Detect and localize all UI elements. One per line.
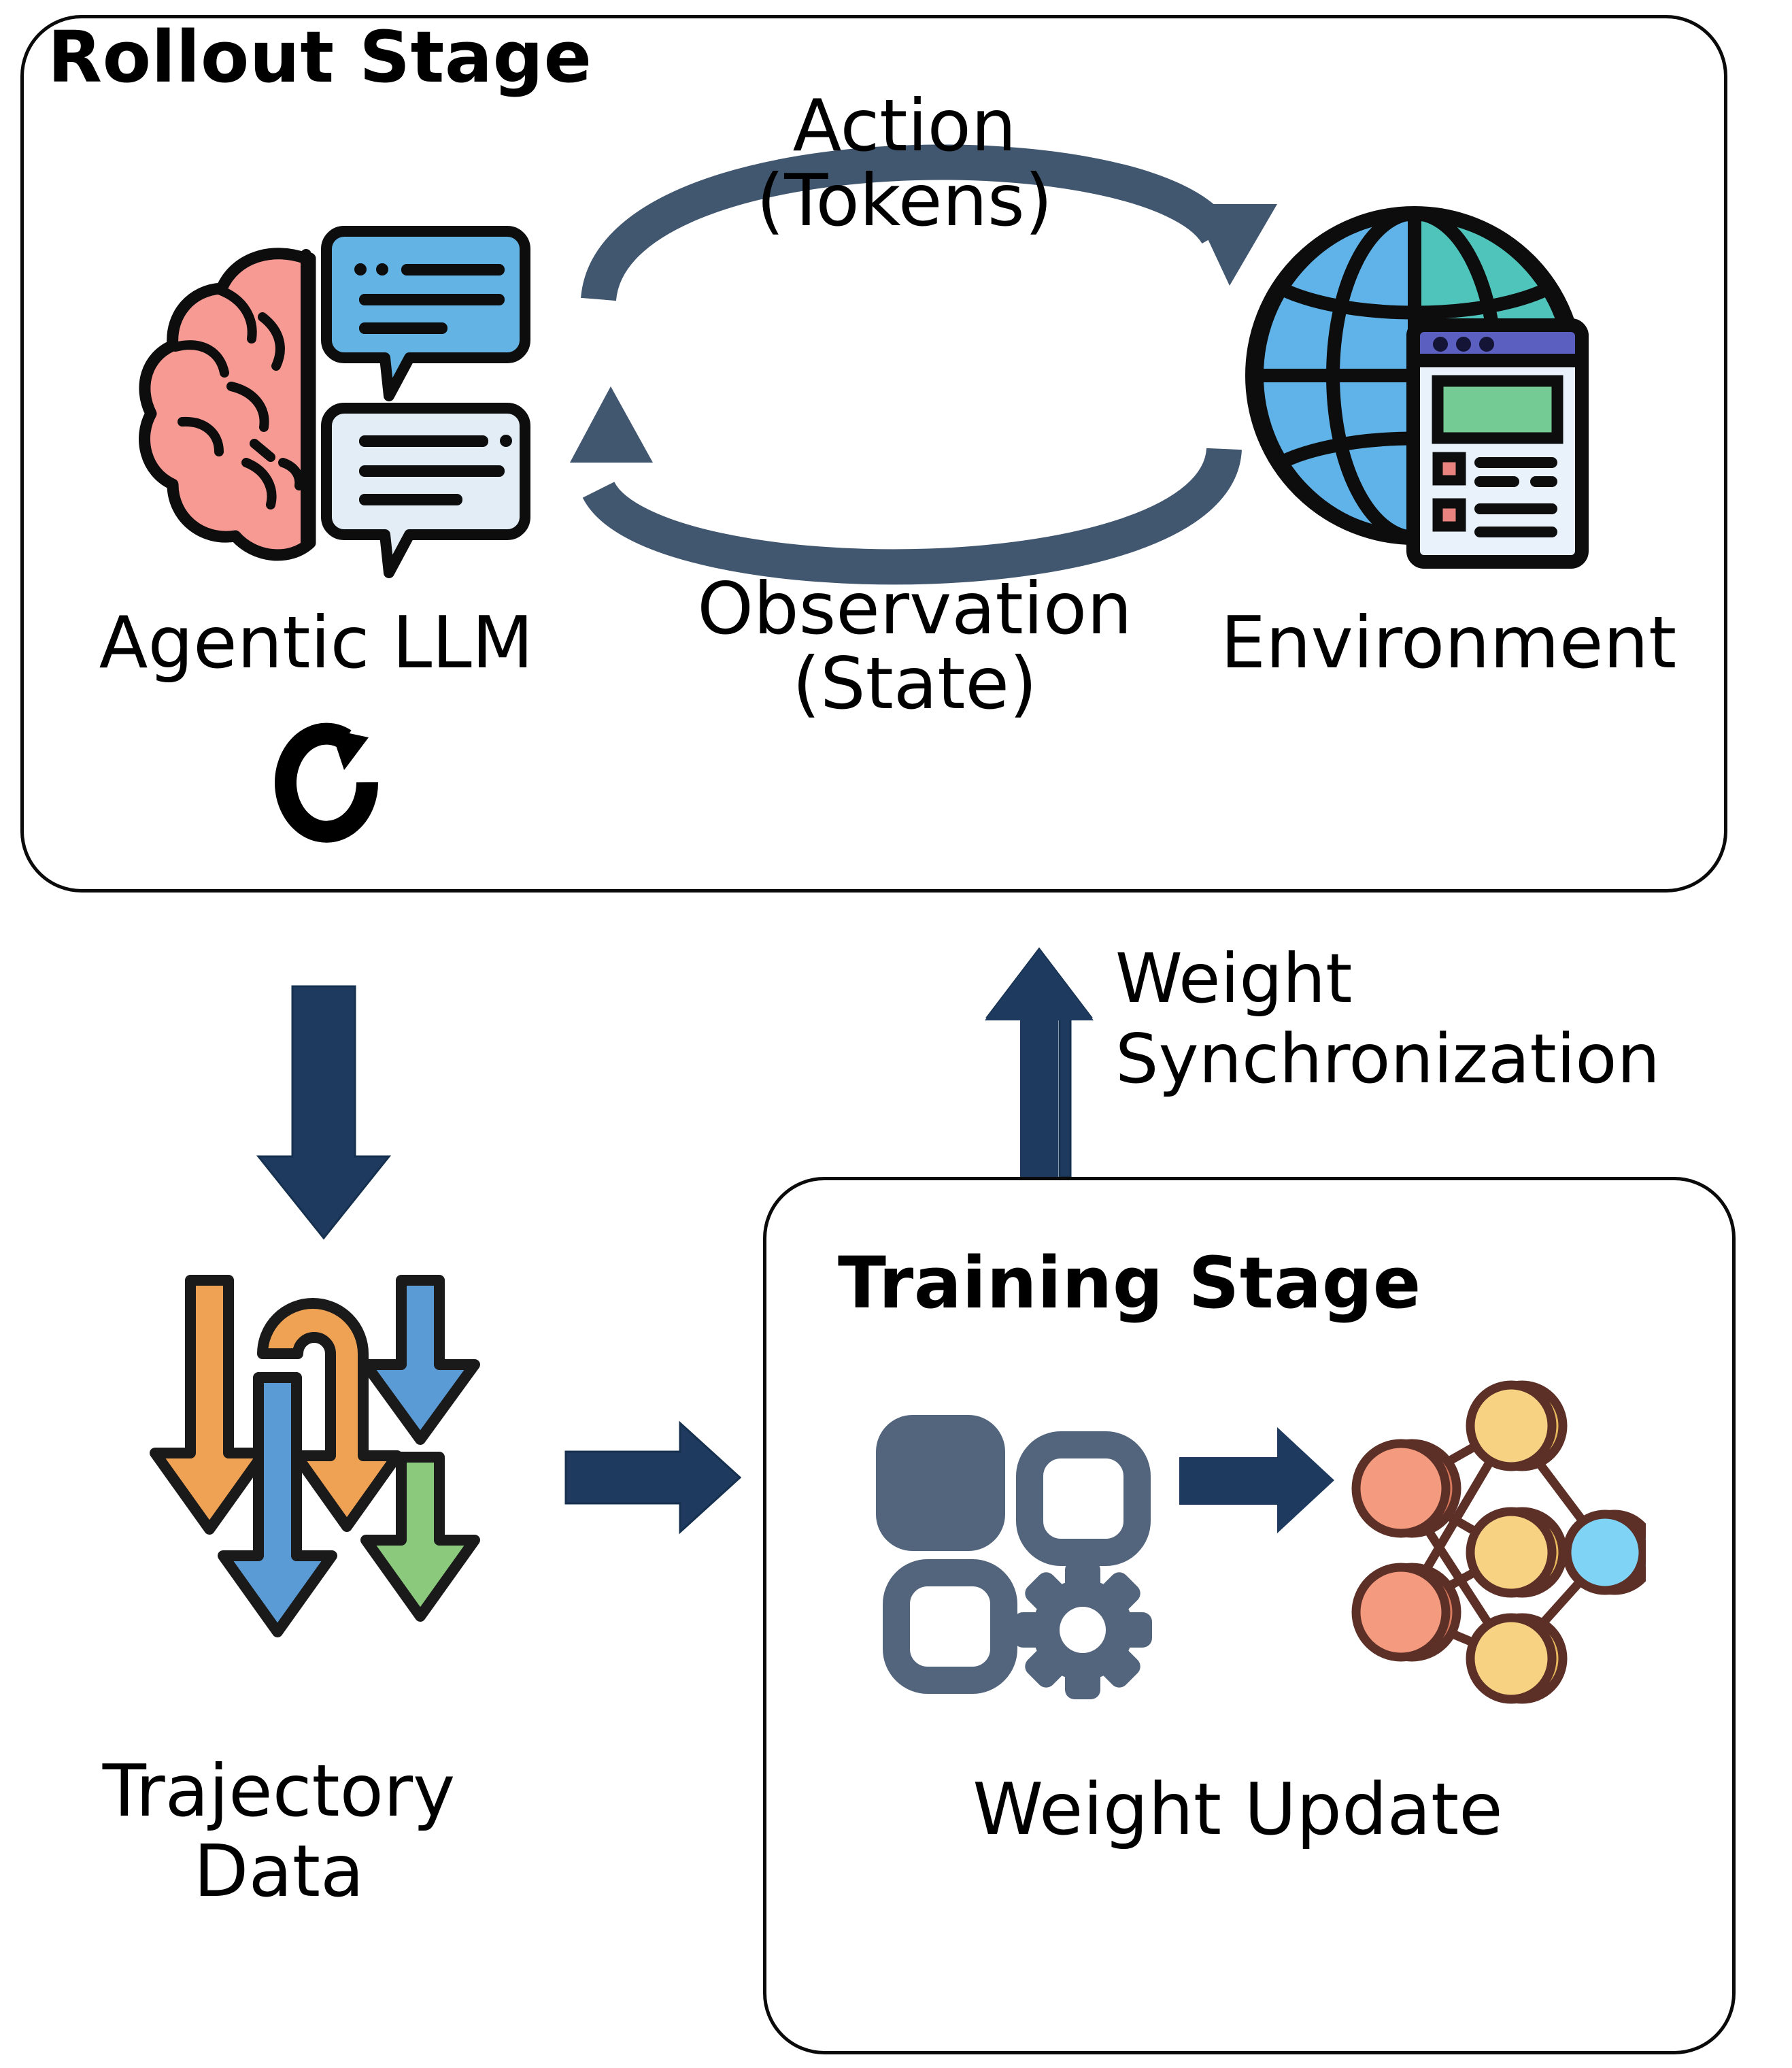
observation-label: Observation (State) — [615, 571, 1214, 722]
trajectory-data-label: Trajectory Data — [41, 1752, 517, 1912]
weight-sync-line1: Weight — [1115, 939, 1789, 1019]
neural-network-icon — [1333, 1367, 1646, 1721]
observation-label-line2: (State) — [615, 646, 1214, 721]
weight-sync-line2: Synchronization — [1115, 1019, 1789, 1099]
weight-update-label: Weight Update — [870, 1772, 1605, 1847]
rollout-stage-title: Rollout Stage — [48, 20, 592, 95]
action-label: Action (Tokens) — [687, 88, 1122, 239]
agentic-llm-label: Agentic LLM — [34, 605, 598, 680]
environment-label: Environment — [1156, 605, 1741, 680]
up-arrow-weight-synchronization — [985, 949, 1094, 1177]
globe-browser-icon — [1245, 190, 1612, 571]
observation-label-line1: Observation — [615, 571, 1214, 646]
right-arrow-trajectory-to-training — [566, 1423, 740, 1532]
trajectory-label-line1: Trajectory — [41, 1752, 517, 1832]
action-label-line1: Action — [687, 88, 1122, 163]
down-arrow-rollout-to-trajectory — [258, 986, 389, 1238]
action-label-line2: (Tokens) — [687, 163, 1122, 238]
weight-synchronization-label: Weight Synchronization — [1115, 939, 1789, 1099]
trajectory-label-line2: Data — [41, 1832, 517, 1912]
training-stage-title: Training Stage — [838, 1246, 1421, 1320]
diagram-canvas: Rollout Stage — [0, 0, 1792, 2068]
refresh-loop-icon — [265, 714, 394, 850]
blocks-gear-icon — [872, 1389, 1157, 1702]
brain-chat-bubbles-icon — [102, 204, 537, 585]
mixed-direction-arrows-icon — [129, 1265, 496, 1660]
